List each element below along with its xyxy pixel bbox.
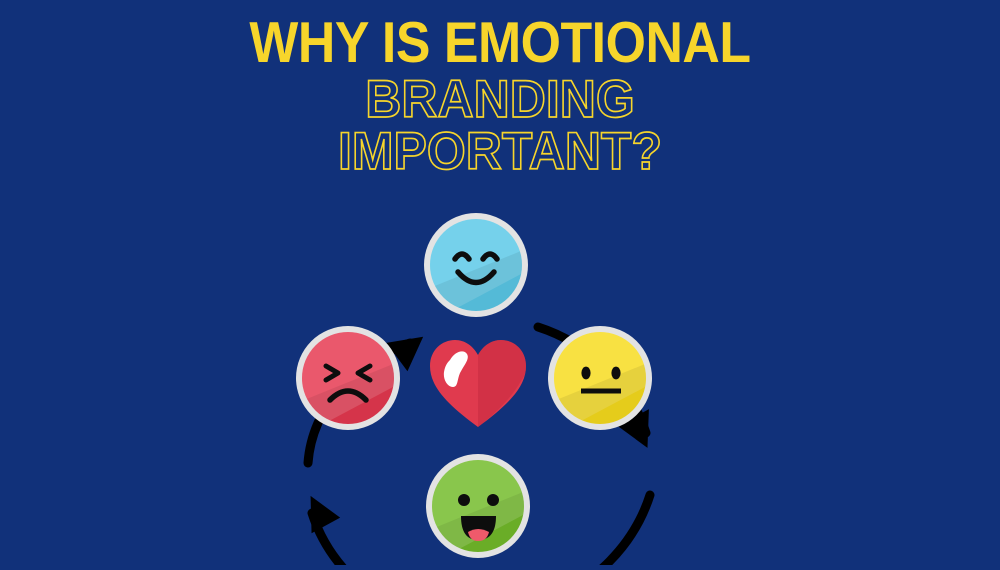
frustrated-face-icon xyxy=(296,326,400,430)
arrow-neutral-to-laugh-path xyxy=(546,495,650,565)
smiling-face-features xyxy=(430,219,522,311)
heart-icon xyxy=(426,335,530,431)
left-eye xyxy=(458,494,470,506)
laughing-face-disc xyxy=(432,460,524,552)
title-line-1: WHY IS EMOTIONAL xyxy=(20,14,980,71)
smiling-face-disc xyxy=(430,219,522,311)
left-eye xyxy=(581,367,590,380)
left-eye xyxy=(455,254,469,259)
right-eye xyxy=(487,494,499,506)
right-eye xyxy=(483,254,497,259)
tongue xyxy=(468,529,489,541)
right-eye xyxy=(611,367,620,380)
heart-shading xyxy=(478,340,526,427)
smiling-face-icon xyxy=(424,213,528,317)
page-title: WHY IS EMOTIONAL BRANDING IMPORTANT? xyxy=(0,16,1000,176)
emotion-cycle-diagram xyxy=(250,195,710,565)
neutral-face-disc xyxy=(554,332,646,424)
laughing-face-icon xyxy=(426,454,530,558)
right-eye-squint xyxy=(358,366,370,380)
title-line-3: IMPORTANT? xyxy=(0,125,1000,178)
mouth-frown xyxy=(330,391,366,400)
mouth-smile xyxy=(458,272,494,283)
left-eye-squint xyxy=(326,366,338,380)
frustrated-face-disc xyxy=(302,332,394,424)
neutral-face-features xyxy=(554,332,646,424)
neutral-face-icon xyxy=(548,326,652,430)
poster-canvas: WHY IS EMOTIONAL BRANDING IMPORTANT? xyxy=(0,0,1000,570)
frustrated-face-features xyxy=(302,332,394,424)
title-line-2: BRANDING xyxy=(0,73,1000,126)
laughing-face-features xyxy=(432,460,524,552)
